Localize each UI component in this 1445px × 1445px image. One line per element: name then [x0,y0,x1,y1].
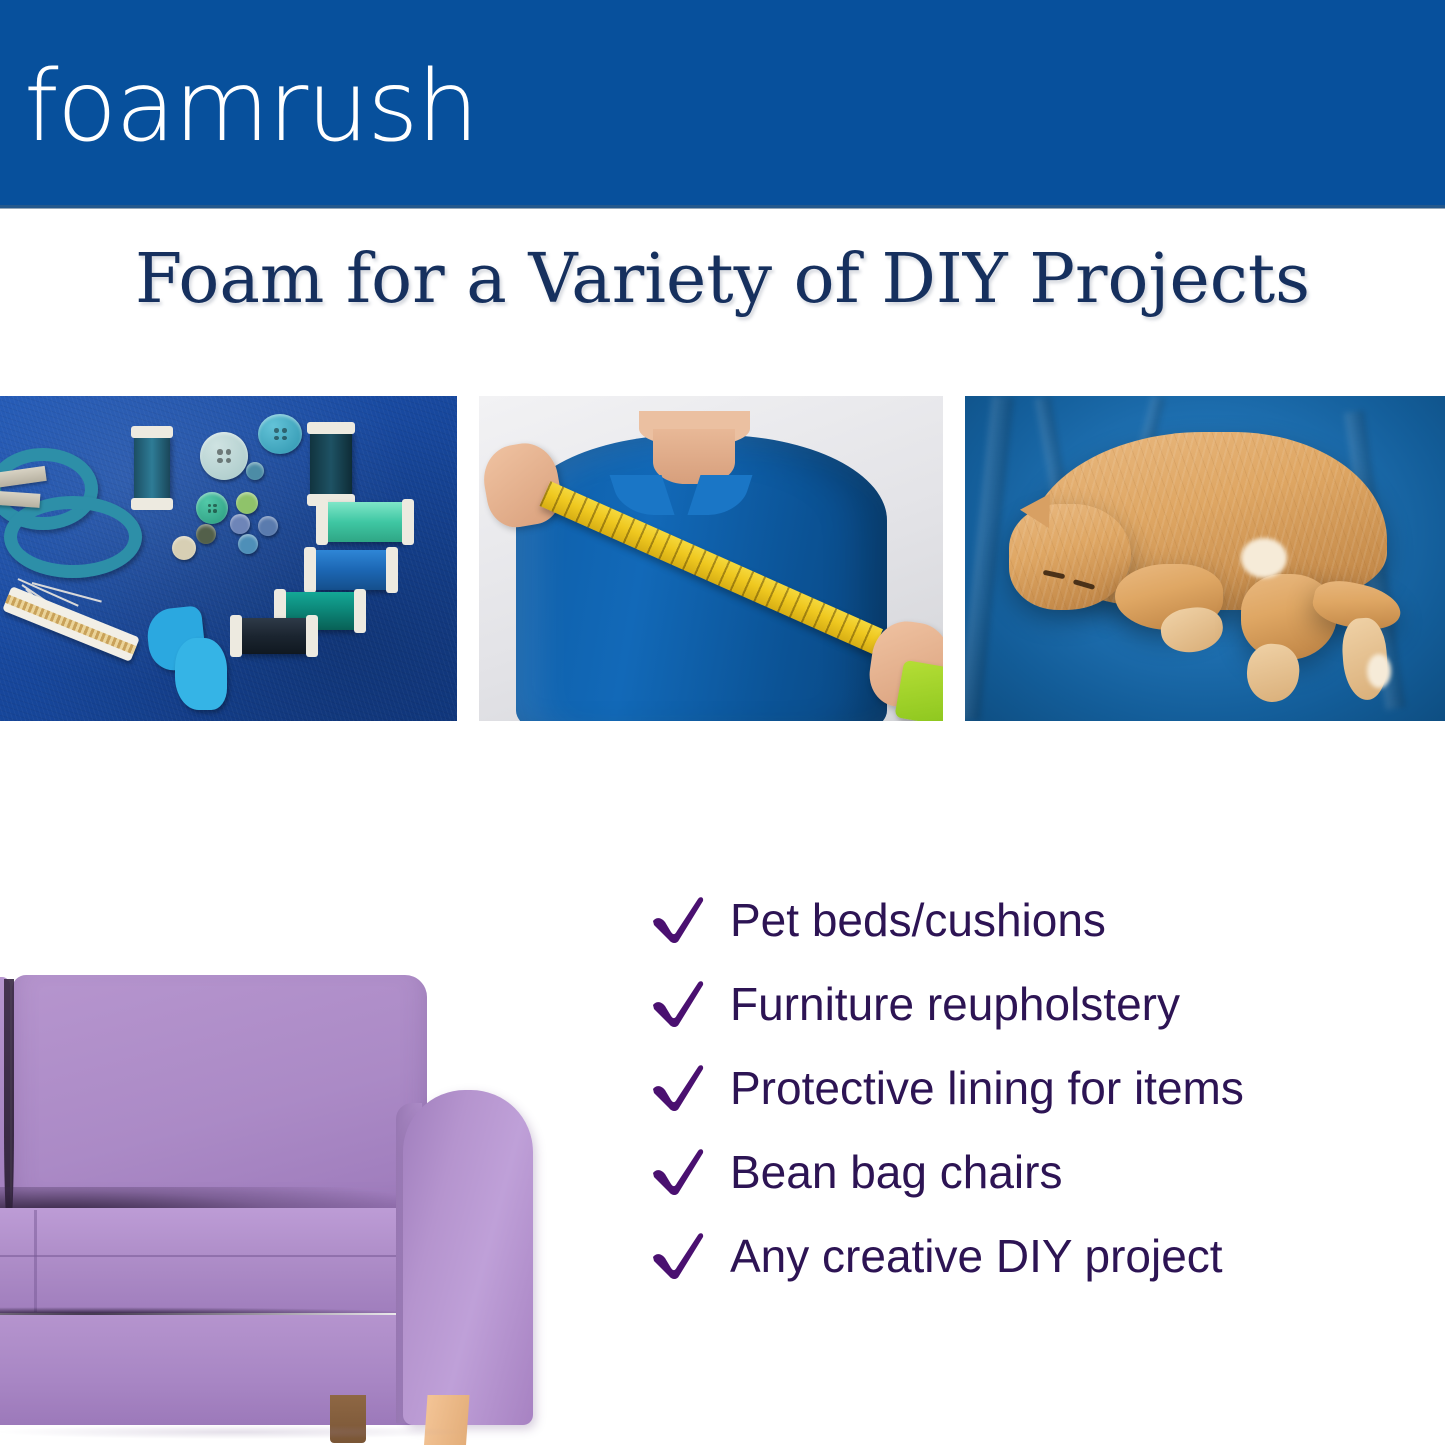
list-item-label: Furniture reupholstery [730,981,1180,1027]
tape-measure-photo [479,396,943,721]
sofa-seat-cushion [0,1208,440,1313]
list-item: Any creative DIY project [648,1214,1438,1298]
scissors-handle-lower [4,496,142,578]
sofa-seat-split [34,1210,37,1312]
brand-logo: foamrush [24,58,478,156]
button [246,462,264,480]
header-banner-divider [0,205,1445,209]
button [196,524,216,544]
sofa-seat-seam [0,1255,440,1257]
button [230,514,250,534]
button [258,516,278,536]
button [200,432,248,480]
thread-spool [236,618,312,654]
cat-white-belly-patch [1241,538,1287,578]
shirt-collar-right [688,475,753,515]
sofa-base [0,1315,438,1425]
check-icon [648,1144,710,1200]
list-item: Protective lining for items [648,1046,1438,1130]
list-item: Pet beds/cushions [648,878,1438,962]
button [196,492,228,524]
list-item: Bean bag chairs [648,1130,1438,1214]
button [172,536,196,560]
photo-strip [0,396,1445,721]
button [238,534,258,554]
shirt-collar-left [610,475,675,515]
check-icon [648,976,710,1032]
list-item-label: Pet beds/cushions [730,897,1106,943]
thread-spool [134,432,170,504]
marketing-infographic: foamrush Foam for a Variety of DIY Proje… [0,0,1445,1445]
benefits-checklist: Pet beds/cushions Furniture reupholstery… [648,878,1438,1298]
cat-on-bean-bag-photo [965,396,1445,721]
list-item-label: Bean bag chairs [730,1149,1062,1195]
scissors-blade-2 [0,490,40,508]
thread-spool [310,550,392,590]
tape-measure-case [894,660,943,721]
purple-sofa-illustration [0,955,560,1445]
button [236,492,258,514]
button [258,414,302,454]
sofa-floor-shadow [0,1425,470,1439]
list-item-label: Any creative DIY project [730,1233,1223,1279]
thread-spool [322,502,408,542]
cat-white-paw-tip [1367,654,1391,688]
tailors-chalk [175,638,227,710]
check-icon [648,1060,710,1116]
sewing-supplies-photo [0,396,457,721]
sofa-rolled-arm [403,1090,533,1425]
page-title: Foam for a Variety of DIY Projects [0,243,1445,316]
check-icon [648,892,710,948]
thread-spool [310,428,352,500]
list-item: Furniture reupholstery [648,962,1438,1046]
check-icon [648,1228,710,1284]
list-item-label: Protective lining for items [730,1065,1244,1111]
